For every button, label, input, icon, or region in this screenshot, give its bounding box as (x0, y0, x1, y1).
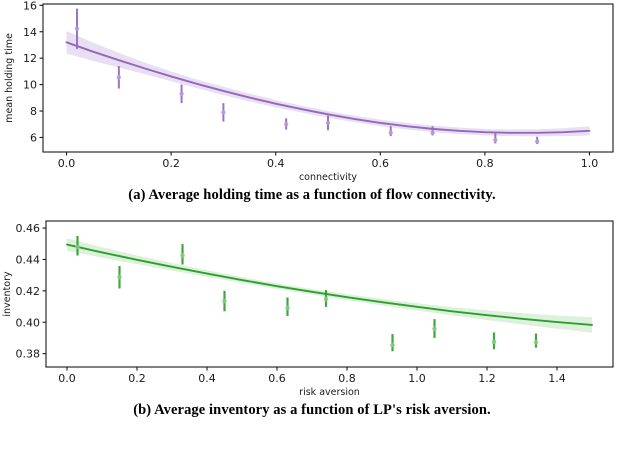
chart-b-canvas: 0.00.20.40.60.81.01.21.40.380.400.420.44… (0, 212, 624, 397)
y-tick-label: 0.40 (16, 316, 41, 329)
data-point (535, 139, 539, 143)
y-tick-label: 16 (23, 0, 37, 12)
x-tick-label: 0.2 (128, 372, 146, 385)
x-axis-title: risk aversion (299, 387, 360, 397)
data-point (492, 340, 497, 345)
data-point (117, 75, 121, 79)
x-tick-label: 0.6 (268, 372, 286, 385)
data-point (493, 138, 497, 142)
x-tick-label: 0.8 (338, 372, 356, 385)
data-point (284, 122, 288, 126)
x-tick-label: 1.2 (478, 372, 496, 385)
data-point (432, 327, 437, 332)
data-point (222, 299, 227, 304)
x-tick-label: 0.0 (58, 372, 76, 385)
y-tick-label: 6 (30, 131, 37, 144)
subfigure-a: 0.00.20.40.60.81.06810121416connectivity… (0, 0, 624, 204)
subfigure-a-caption: (a) Average holding time as a function o… (0, 187, 624, 204)
data-point (75, 245, 80, 250)
y-tick-label: 10 (23, 79, 37, 92)
data-point (326, 121, 330, 125)
data-point (389, 131, 393, 135)
y-tick-label: 8 (30, 105, 37, 118)
figure-page: 0.00.20.40.60.81.06810121416connectivity… (0, 0, 624, 452)
data-point (390, 343, 395, 348)
y-tick-label: 0.46 (16, 222, 41, 235)
data-point (324, 297, 329, 302)
y-tick-label: 14 (23, 26, 37, 39)
x-tick-label: 0.8 (476, 157, 494, 170)
x-tick-label: 0.6 (372, 157, 390, 170)
x-tick-label: 1.0 (581, 157, 599, 170)
subfigure-b-caption: (b) Average inventory as a function of L… (0, 402, 624, 419)
subfigure-b: 0.00.20.40.60.81.01.21.40.380.400.420.44… (0, 212, 624, 419)
data-point (179, 92, 183, 96)
x-tick-label: 1.0 (408, 372, 426, 385)
x-axis-title: connectivity (299, 172, 357, 182)
y-tick-label: 12 (23, 52, 37, 65)
x-tick-label: 0.4 (198, 372, 216, 385)
x-tick-label: 0.2 (162, 157, 180, 170)
data-point (285, 306, 290, 311)
y-tick-label: 0.44 (16, 253, 41, 266)
data-point (75, 26, 79, 30)
x-tick-label: 0.0 (58, 157, 76, 170)
y-axis-title: mean holding time (4, 33, 15, 123)
data-point (221, 110, 225, 114)
x-tick-label: 1.4 (548, 372, 566, 385)
data-point (117, 275, 122, 280)
chart-inventory-vs-risk-aversion: 0.00.20.40.60.81.01.21.40.380.400.420.44… (0, 212, 624, 397)
data-point (534, 340, 539, 345)
x-tick-label: 0.4 (267, 157, 285, 170)
data-point (430, 131, 434, 135)
chart-a-canvas: 0.00.20.40.60.81.06810121416connectivity… (0, 0, 624, 182)
data-point (180, 253, 185, 258)
y-axis-title: inventory (2, 271, 13, 317)
chart-holding-time-vs-connectivity: 0.00.20.40.60.81.06810121416connectivity… (0, 0, 624, 182)
y-tick-label: 0.38 (16, 348, 41, 361)
y-tick-label: 0.42 (16, 285, 41, 298)
